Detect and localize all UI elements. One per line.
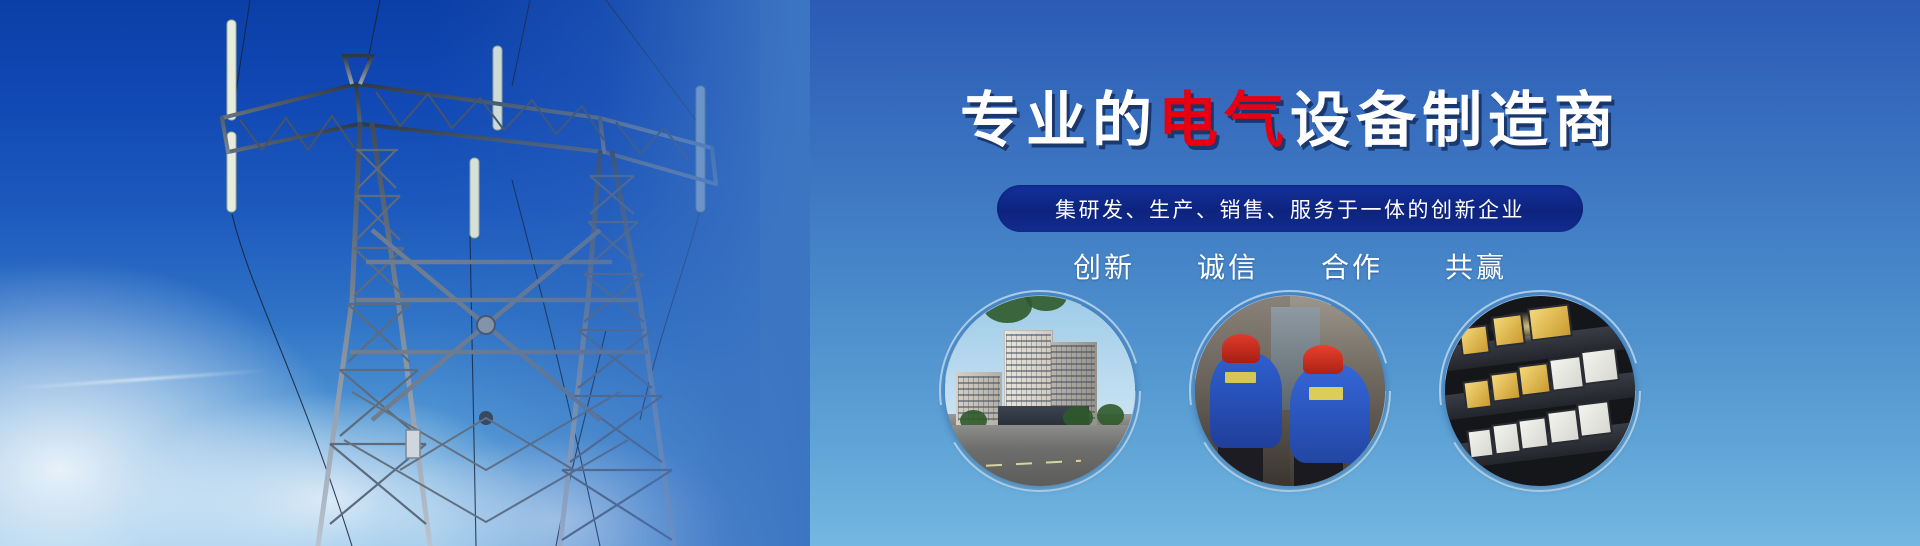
- banner-content: 专业的电气设备制造商 集研发、生产、销售、服务于一体的创新企业 创新 诚信 合作…: [660, 0, 1920, 546]
- keyword-winwin: 共赢: [1445, 246, 1507, 286]
- headline-part-1: 专业的: [960, 87, 1158, 154]
- subtitle-pill: 集研发、生产、销售、服务于一体的创新企业: [997, 185, 1583, 232]
- gallery-item-technicians: [1195, 296, 1385, 486]
- photo-gallery: [660, 296, 1920, 546]
- keyword-list: 创新 诚信 合作 共赢: [660, 246, 1920, 286]
- hero-banner: 专业的电气设备制造商 集研发、生产、销售、服务于一体的创新企业 创新 诚信 合作…: [0, 0, 1920, 546]
- keyword-cooperation: 合作: [1321, 246, 1383, 286]
- subtitle-text: 集研发、生产、销售、服务于一体的创新企业: [1055, 194, 1525, 224]
- gallery-item-certificates: [1445, 296, 1635, 486]
- technicians-at-work-photo: [1195, 296, 1385, 486]
- headline-part-2: 设备制造商: [1290, 87, 1620, 154]
- gallery-item-office: [945, 296, 1135, 486]
- certificates-wall-photo: [1445, 296, 1635, 486]
- headline-accent: 电气: [1158, 87, 1290, 154]
- page-title: 专业的电气设备制造商: [660, 72, 1920, 159]
- keyword-integrity: 诚信: [1197, 246, 1259, 286]
- office-building-photo: [945, 296, 1135, 486]
- keyword-innovation: 创新: [1073, 246, 1135, 286]
